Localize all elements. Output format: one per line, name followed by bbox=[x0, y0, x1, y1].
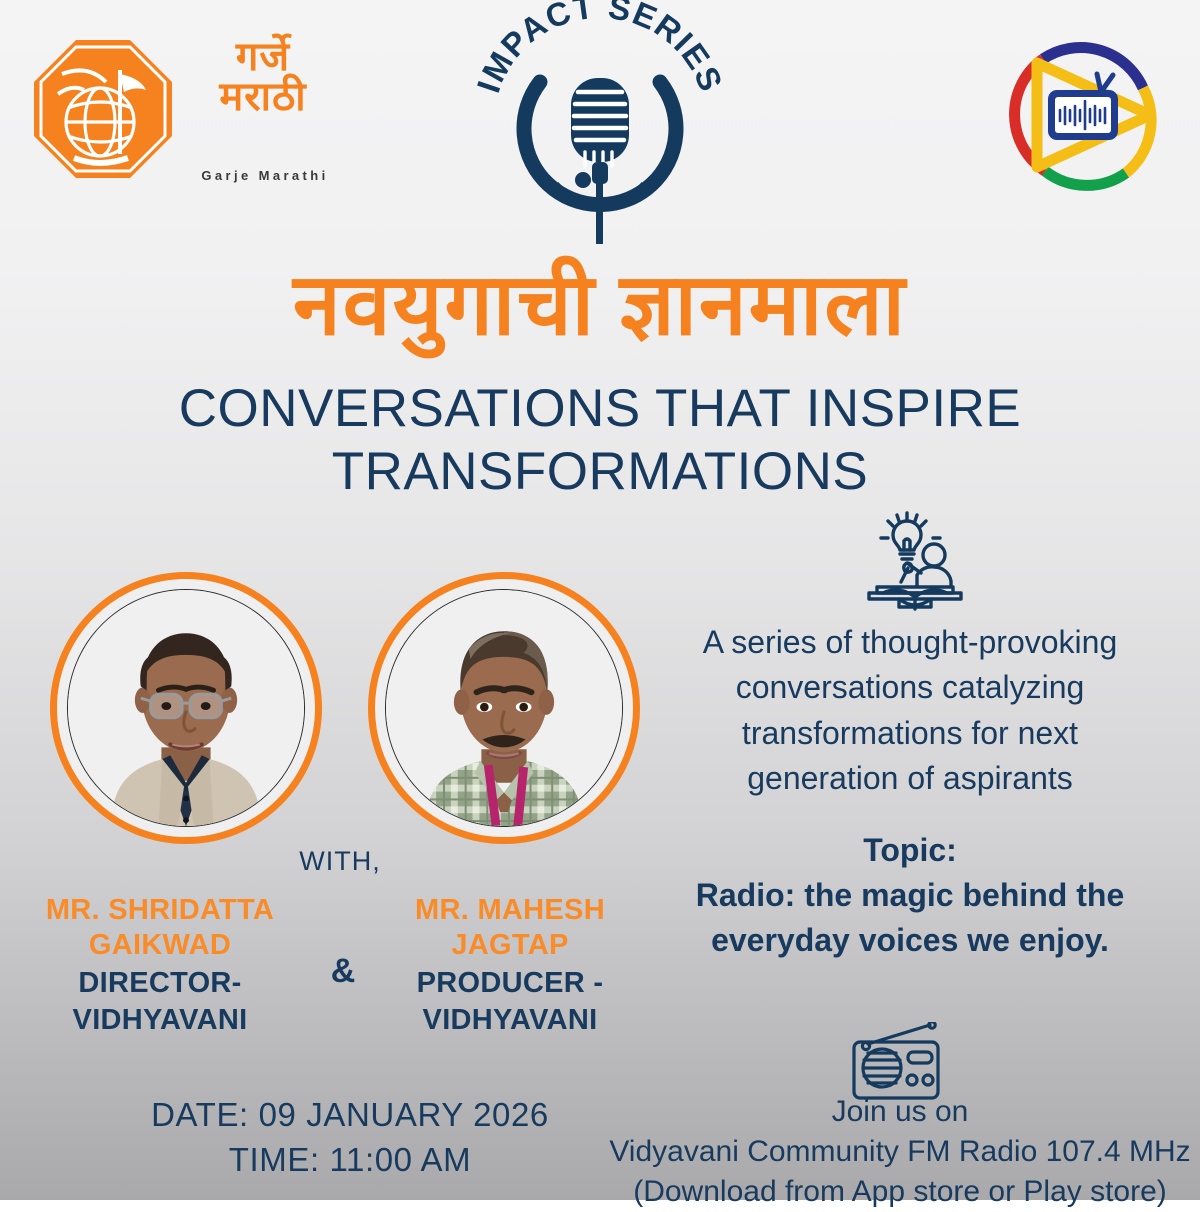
speaker-2-name-line2: JAGTAP bbox=[365, 928, 655, 963]
garje-marathi-latin-label: Garje Marathi bbox=[180, 168, 350, 183]
speaker-1-name-line1: MR. SHRIDATTA bbox=[15, 893, 305, 928]
event-schedule: DATE: 09 JANUARY 2026 TIME: 11:00 AM bbox=[60, 1093, 640, 1182]
description-line-2: conversations catalyzing bbox=[640, 665, 1180, 710]
with-label: WITH, bbox=[255, 846, 425, 877]
page-subtitle: CONVERSATIONS THAT INSPIRE TRANSFORMATIO… bbox=[120, 378, 1080, 503]
subtitle-line-1: CONVERSATIONS THAT INSPIRE bbox=[120, 378, 1080, 441]
garje-marathi-devanagari-line1: गर्जे bbox=[188, 38, 338, 76]
topic-line-2: everyday voices we enjoy. bbox=[640, 918, 1180, 963]
event-time: TIME: 11:00 AM bbox=[60, 1138, 640, 1183]
join-us-block: Join us on Vidyavani Community FM Radio … bbox=[600, 1092, 1200, 1212]
speaker-1-role-line2: VIDHYAVANI bbox=[15, 1003, 305, 1038]
page-title-marathi: नवयुगाची ज्ञानमाला bbox=[0, 262, 1200, 348]
avatar bbox=[385, 589, 623, 827]
description-line-1: A series of thought-provoking bbox=[640, 620, 1180, 665]
speaker-1-role-line1: DIRECTOR- bbox=[15, 966, 305, 1001]
globe-flag-octagon-icon bbox=[28, 34, 178, 184]
garje-marathi-logo: गर्जे मराठी Garje Marathi bbox=[20, 28, 340, 198]
speaker-1-name-line2: GAIKWAD bbox=[15, 928, 305, 963]
garje-marathi-wordmark: गर्जे मराठी bbox=[188, 38, 338, 158]
series-description: A series of thought-provoking conversati… bbox=[640, 620, 1180, 802]
speaker-photo-1 bbox=[50, 572, 322, 844]
speaker-2-role-line2: VIDHYAVANI bbox=[365, 1003, 655, 1038]
speaker-2-role-line1: PRODUCER - bbox=[365, 966, 655, 1001]
subtitle-line-2: TRANSFORMATIONS bbox=[120, 441, 1080, 504]
description-line-4: generation of aspirants bbox=[640, 756, 1180, 801]
avatar bbox=[67, 589, 305, 827]
poster-canvas: गर्जे मराठी Garje Marathi IMPACT SERIES bbox=[0, 0, 1200, 1200]
join-line-2: Vidyavani Community FM Radio 107.4 MHz bbox=[600, 1132, 1200, 1172]
vidyavani-logo bbox=[1000, 30, 1170, 200]
speaker-1-info: MR. SHRIDATTA GAIKWAD DIRECTOR- VIDHYAVA… bbox=[15, 893, 305, 1039]
lightbulb-person-book-icon bbox=[855, 505, 975, 613]
garje-marathi-devanagari-line2: मराठी bbox=[188, 78, 338, 116]
description-line-3: transformations for next bbox=[640, 711, 1180, 756]
vintage-microphone-icon: IMPACT SERIES bbox=[470, 0, 730, 250]
radio-play-circle-icon bbox=[1000, 30, 1170, 200]
speaker-2-name-line1: MR. MAHESH bbox=[365, 893, 655, 928]
topic-line-1: Radio: the magic behind the bbox=[640, 873, 1180, 918]
join-line-3: (Download from App store or Play store) bbox=[600, 1172, 1200, 1212]
event-date: DATE: 09 JANUARY 2026 bbox=[60, 1093, 640, 1138]
man-with-glasses-beige-blazer-portrait bbox=[68, 590, 304, 826]
topic-label: Topic: bbox=[640, 828, 1180, 873]
topic-block: Topic: Radio: the magic behind the every… bbox=[640, 828, 1180, 962]
man-with-mustache-checkered-shirt-portrait bbox=[386, 590, 622, 826]
speaker-2-info: MR. MAHESH JAGTAP PRODUCER - VIDHYAVANI bbox=[365, 893, 655, 1039]
impact-series-logo: IMPACT SERIES bbox=[470, 0, 730, 250]
speaker-photo-2 bbox=[368, 572, 640, 844]
join-line-1: Join us on bbox=[600, 1092, 1200, 1132]
